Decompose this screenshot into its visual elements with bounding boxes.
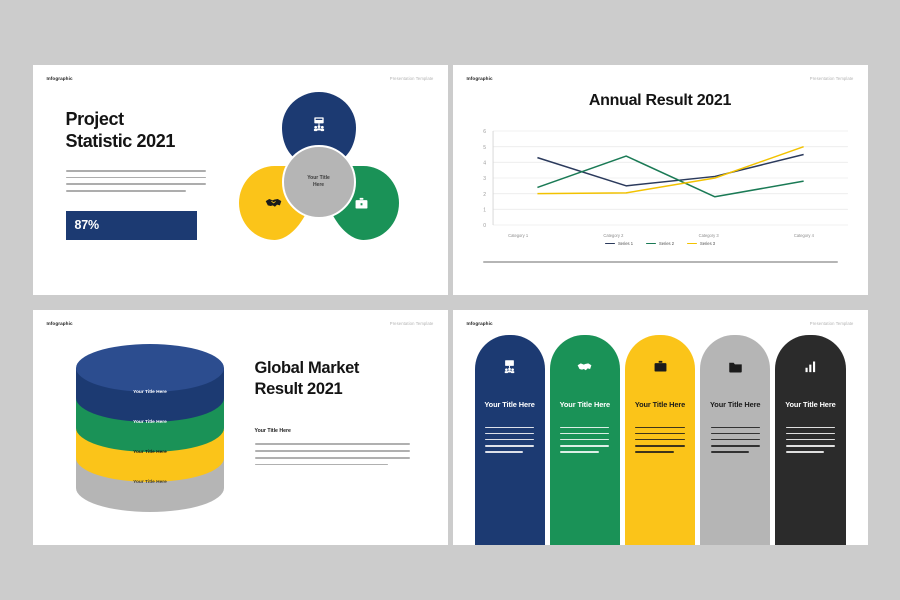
text-line [66, 183, 206, 185]
brand-label: Infographic [467, 321, 493, 326]
arch-column-group: Your Title HereYour Title HereYour Title… [475, 335, 846, 545]
text-line [711, 433, 760, 434]
briefcase-icon [354, 196, 369, 211]
chart-y-axis-labels: 0123456 [483, 129, 486, 229]
svg-text:2: 2 [483, 192, 486, 198]
text-line [786, 445, 835, 446]
text-line [560, 451, 598, 452]
text-line [255, 457, 410, 459]
arch-column[interactable]: Your Title Here [625, 335, 695, 545]
briefcase-icon [653, 358, 668, 374]
text-line [786, 439, 835, 440]
text-line [485, 445, 534, 446]
text-line [66, 190, 186, 192]
arch-column-body [786, 427, 835, 457]
brand-label: Infographic [467, 76, 493, 81]
three-petal-diagram: Your Title Here [229, 90, 409, 270]
page-title: Global Market Result 2021 [255, 358, 410, 399]
text-line [485, 427, 534, 428]
presentation-icon [502, 358, 517, 374]
svg-text:3: 3 [483, 176, 486, 182]
template-label: Presentation Template [810, 76, 854, 81]
text-line [635, 451, 673, 452]
slide-header: Infographic Presentation Template [467, 321, 854, 326]
template-label: Presentation Template [390, 76, 434, 81]
slide3-text-block: Global Market Result 2021 Your Title Her… [255, 358, 410, 471]
arch-column[interactable]: Your Title Here [475, 335, 545, 545]
svg-text:0: 0 [483, 223, 486, 229]
page-title-line1: Global Market [255, 358, 410, 379]
legend-swatch [687, 243, 697, 245]
folder-icon [728, 358, 743, 374]
arch-column-body [560, 427, 609, 457]
arch-column-title: Your Title Here [785, 400, 835, 410]
slide1-text-block: Project Statistic 2021 87% [66, 109, 226, 240]
template-label: Presentation Template [810, 321, 854, 326]
slide-five-columns[interactable]: Infographic Presentation Template Your T… [453, 310, 868, 545]
percent-value: 87% [75, 218, 99, 232]
text-line [485, 433, 534, 434]
text-line [711, 451, 749, 452]
svg-text:1: 1 [483, 208, 486, 214]
center-label-line2: Here [313, 182, 324, 189]
slide-project-statistic[interactable]: Infographic Presentation Template Projec… [33, 65, 448, 295]
text-line [560, 433, 609, 434]
text-line [635, 427, 684, 428]
slide-global-market[interactable]: Infographic Presentation Template Your T… [33, 310, 448, 545]
cylinder-layer-label: Your Title Here [58, 390, 243, 395]
text-line [560, 439, 609, 440]
line-chart: 0123456 [471, 127, 852, 237]
page-title: Project Statistic 2021 [66, 109, 226, 153]
page-title-line2: Result 2021 [255, 379, 410, 400]
slide-header: Infographic Presentation Template [47, 321, 434, 326]
text-line [66, 177, 206, 179]
center-label-line1: Your Title [307, 175, 330, 182]
chart-legend: Series 1Series 2Series 3 [453, 241, 868, 246]
cylinder-svg [58, 338, 243, 513]
text-line [711, 427, 760, 428]
text-line [485, 439, 534, 440]
legend-item[interactable]: Series 2 [646, 241, 674, 246]
text-line [483, 261, 838, 263]
brand-label: Infographic [47, 76, 73, 81]
chart-title: Annual Result 2021 [453, 92, 868, 110]
arch-column-body [635, 427, 684, 457]
legend-label: Series 3 [700, 241, 715, 246]
text-line [711, 439, 760, 440]
text-line [786, 433, 835, 434]
slide-annual-result[interactable]: Infographic Presentation Template Annual… [453, 65, 868, 295]
chart-x-label: Category 3 [661, 233, 756, 238]
text-line [560, 427, 609, 428]
slide2-caption [483, 261, 838, 263]
text-line [786, 427, 835, 428]
legend-swatch [646, 243, 656, 245]
arch-column[interactable]: Your Title Here [700, 335, 770, 545]
handshake-icon [265, 194, 282, 211]
chart-x-label: Category 2 [566, 233, 661, 238]
cylinder-layer-label: Your Title Here [58, 420, 243, 425]
text-line [635, 445, 684, 446]
chart-series-lines [537, 147, 803, 197]
arch-column-title: Your Title Here [710, 400, 760, 410]
text-line [485, 451, 523, 452]
slide-deck: Infographic Presentation Template Projec… [0, 0, 900, 600]
text-line [66, 170, 206, 172]
chart-x-label: Category 4 [756, 233, 851, 238]
text-line [560, 445, 609, 446]
legend-swatch [605, 243, 615, 245]
text-line [255, 443, 410, 445]
arch-column[interactable]: Your Title Here [550, 335, 620, 545]
svg-text:6: 6 [483, 129, 486, 135]
legend-item[interactable]: Series 3 [687, 241, 715, 246]
chart-line-series-1 [537, 155, 803, 186]
brand-label: Infographic [47, 321, 73, 326]
cylinder-layer-label: Your Title Here [58, 450, 243, 455]
cylinder-layer-label: Your Title Here [58, 480, 243, 485]
handshake-icon [577, 358, 592, 374]
page-title-line1: Project [66, 109, 226, 131]
percent-badge: 87% [66, 211, 197, 240]
text-line [711, 445, 760, 446]
text-line [635, 433, 684, 434]
chart-gridlines [493, 131, 848, 225]
slide3-body-text [255, 443, 410, 465]
arch-column-title: Your Title Here [635, 400, 685, 410]
arch-column-title: Your Title Here [484, 400, 534, 410]
template-label: Presentation Template [390, 321, 434, 326]
center-label: Your Title Here [282, 145, 356, 219]
bar-chart-icon [803, 358, 818, 374]
text-line [255, 464, 388, 466]
text-line [255, 450, 410, 452]
arch-column-title: Your Title Here [560, 400, 610, 410]
legend-label: Series 2 [659, 241, 674, 246]
arch-column-body [485, 427, 534, 457]
arch-column[interactable]: Your Title Here [775, 335, 845, 545]
section-subtitle: Your Title Here [255, 428, 410, 434]
slide-header: Infographic Presentation Template [467, 76, 854, 81]
chart-x-axis-labels: Category 1Category 2Category 3Category 4 [471, 233, 852, 238]
chart-canvas: 0123456 [471, 127, 852, 237]
svg-text:5: 5 [483, 145, 486, 151]
legend-item[interactable]: Series 1 [605, 241, 633, 246]
layered-cylinder-chart: Your Title HereYour Title HereYour Title… [58, 338, 243, 513]
arch-column-body [711, 427, 760, 457]
legend-label: Series 1 [618, 241, 633, 246]
cylinder-layer-top [76, 344, 224, 392]
slide1-body-text [66, 170, 206, 192]
svg-text:4: 4 [483, 161, 486, 167]
page-title-line2: Statistic 2021 [66, 131, 226, 153]
text-line [635, 439, 684, 440]
slide-header: Infographic Presentation Template [47, 76, 434, 81]
presentation-icon [311, 116, 327, 132]
text-line [786, 451, 824, 452]
chart-x-label: Category 1 [471, 233, 566, 238]
